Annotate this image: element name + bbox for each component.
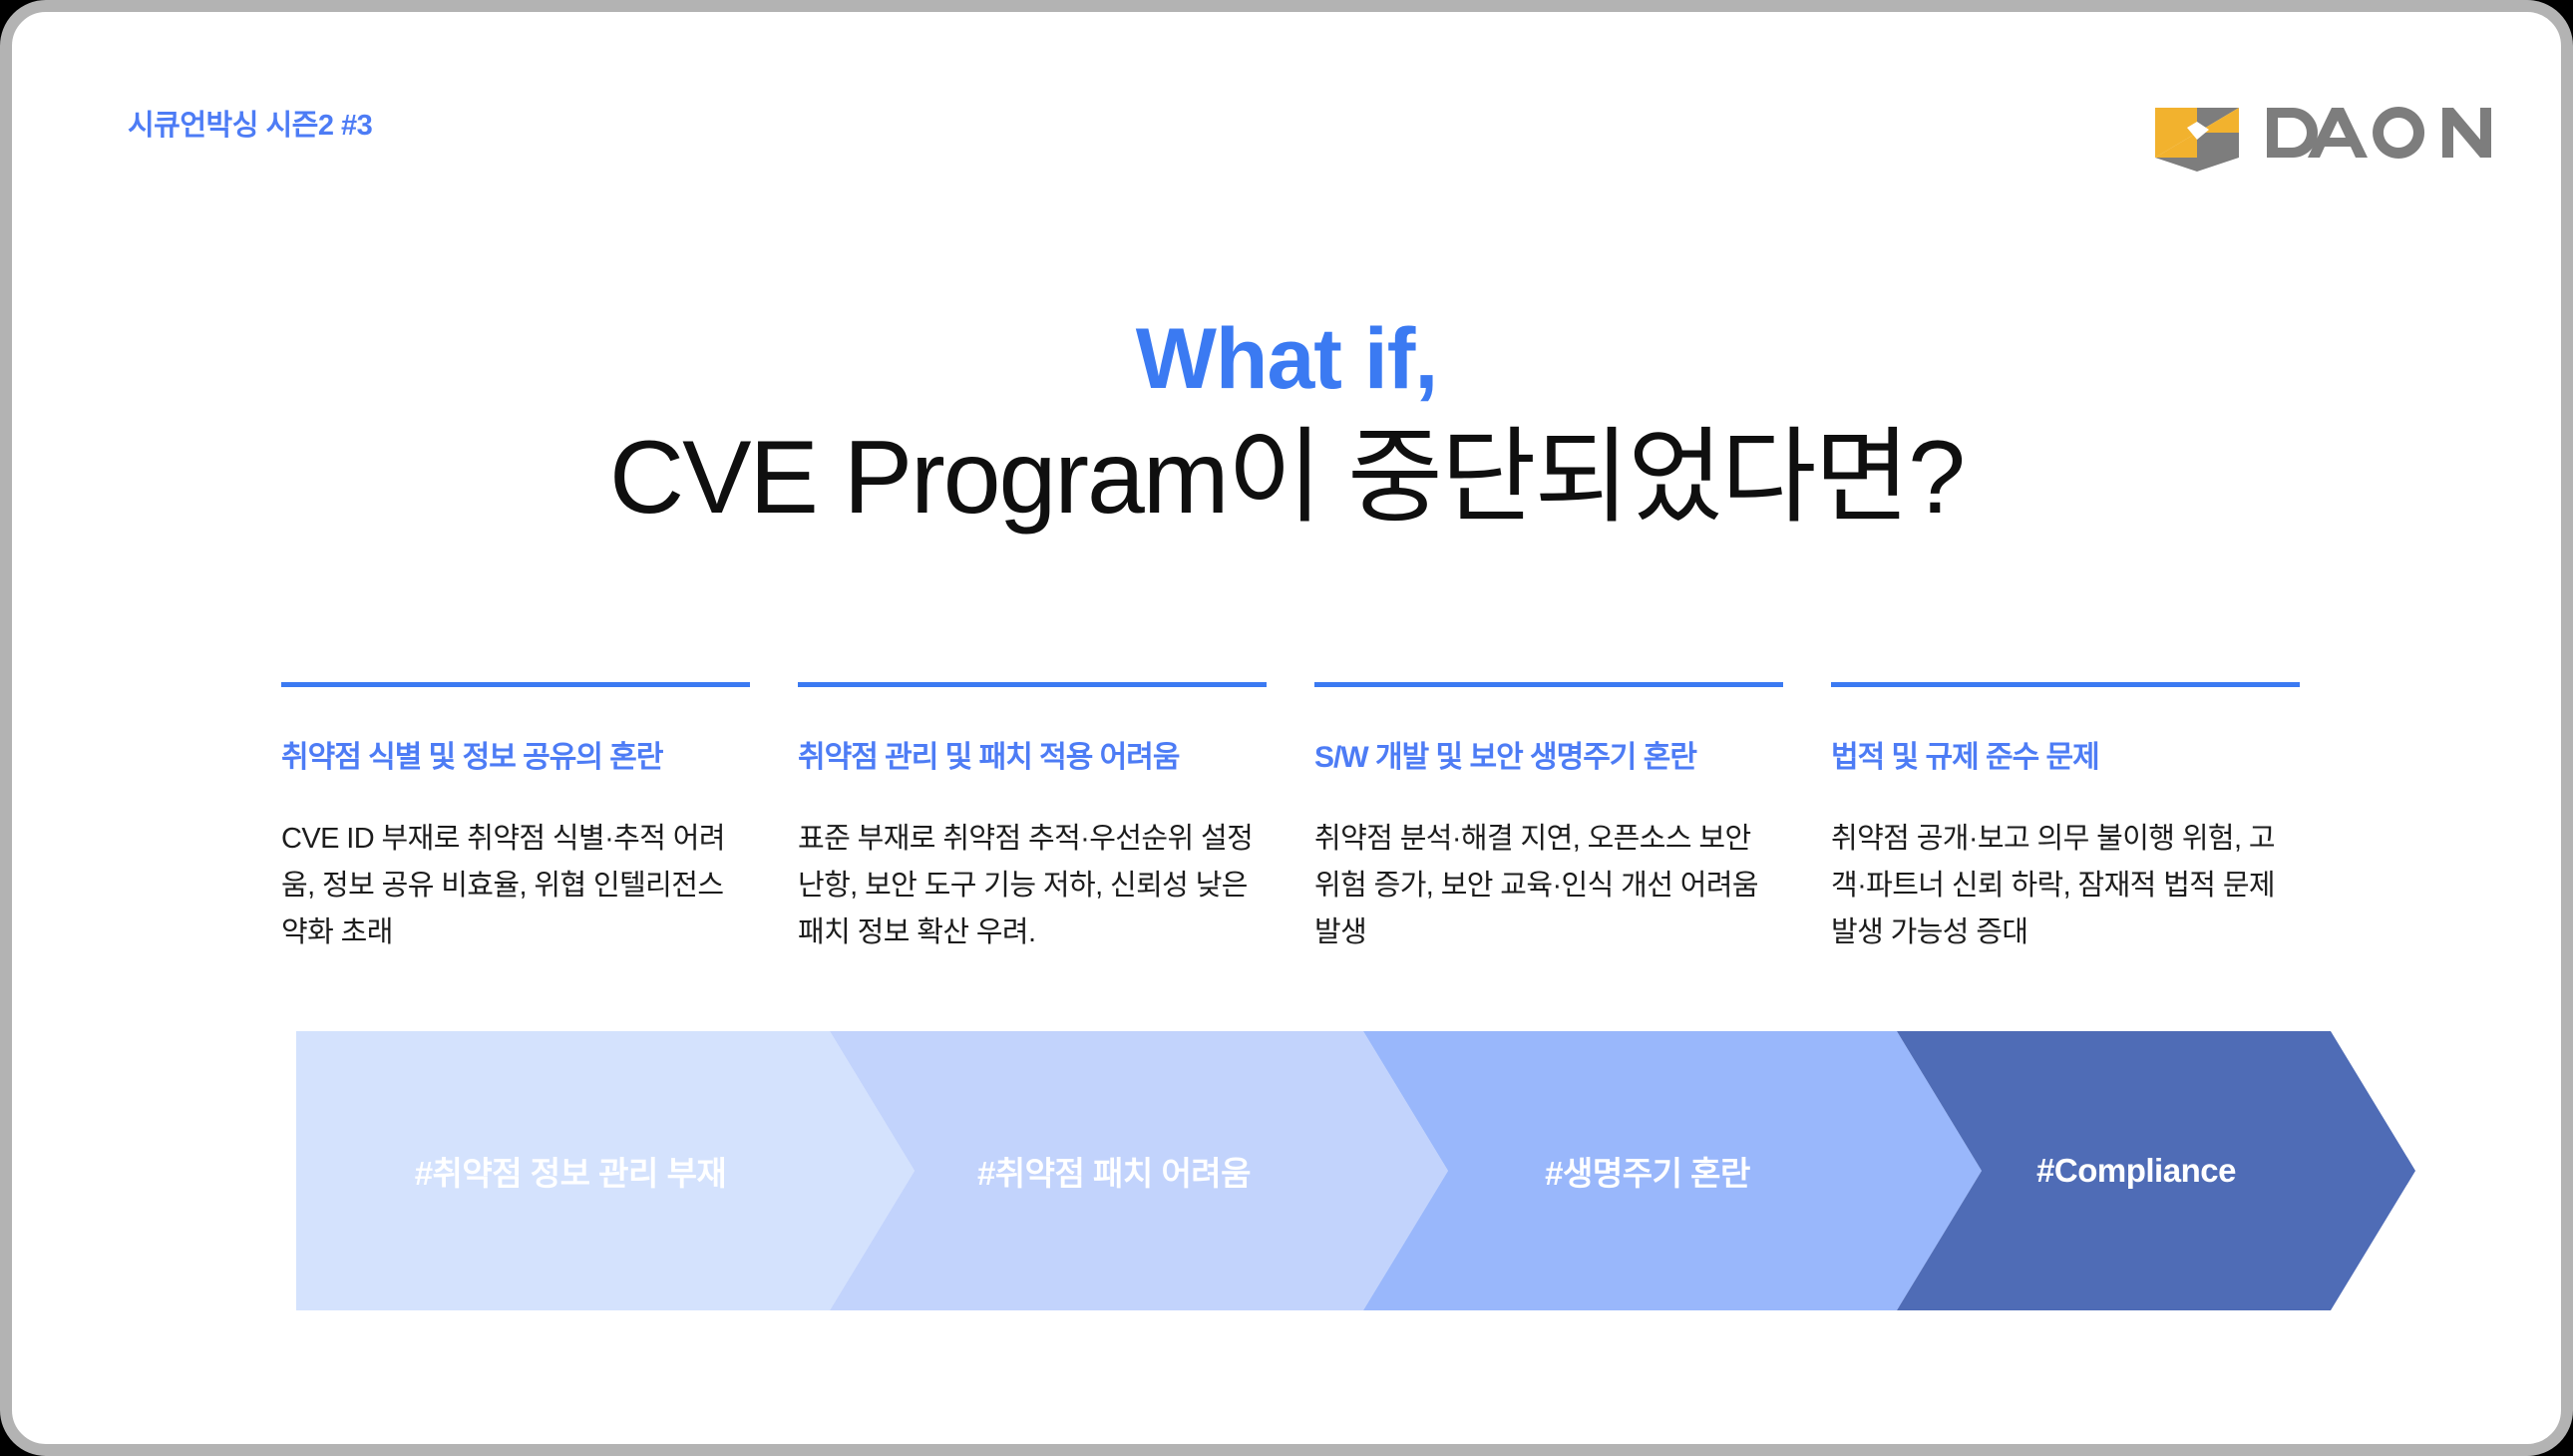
column-divider-rule [1314, 682, 1783, 687]
chevron-step-label: #취약점 정보 관리 부재 [415, 1147, 727, 1195]
column-divider-rule [281, 682, 750, 687]
column-body-text: 표준 부재로 취약점 추적·우선순위 설정 난항, 보안 도구 기능 저하, 신… [798, 816, 1267, 956]
chevron-step-2: #취약점 패치 어려움 [830, 1031, 1448, 1310]
page-title-line2: CVE Program이 중단되었다면? [12, 419, 2561, 538]
chevron-step-3: #생명주기 혼란 [1363, 1031, 1982, 1310]
chevron-step-label: #생명주기 혼란 [1545, 1147, 1750, 1195]
daon-logo-wordmark [2267, 107, 2491, 159]
daon-logo-mark [2155, 94, 2239, 172]
column-body-text: 취약점 분석·해결 지연, 오픈소스 보안 위험 증가, 보안 교육·인식 개선… [1314, 816, 1783, 956]
daon-logo-svg [2147, 94, 2510, 172]
title-block: What if, CVE Program이 중단되었다면? [12, 311, 2561, 538]
column-heading: 취약점 관리 및 패치 적용 어려움 [798, 732, 1267, 776]
slide-canvas: 시큐언박싱 시즌2 #3 [12, 12, 2561, 1444]
column-body-text: CVE ID 부재로 취약점 식별·추적 어려움, 정보 공유 비효율, 위협 … [281, 816, 750, 956]
column-heading: S/W 개발 및 보안 생명주기 혼란 [1314, 732, 1783, 776]
column-body-text: 취약점 공개·보고 의무 불이행 위험, 고객·파트너 신뢰 하락, 잠재적 법… [1831, 816, 2300, 956]
impact-column-2: 취약점 관리 및 패치 적용 어려움 표준 부재로 취약점 추적·우선순위 설정… [798, 682, 1267, 956]
chevron-process-band: #취약점 정보 관리 부재 #취약점 패치 어려움 #생명주기 혼란 #Comp… [296, 1031, 2415, 1310]
daon-logo [2147, 94, 2510, 172]
impact-column-4: 법적 및 규제 준수 문제 취약점 공개·보고 의무 불이행 위험, 고객·파트… [1831, 682, 2300, 956]
impact-column-1: 취약점 식별 및 정보 공유의 혼란 CVE ID 부재로 취약점 식별·추적 … [281, 682, 750, 956]
slide-eyebrow-label: 시큐언박싱 시즌2 #3 [128, 102, 372, 144]
chevron-step-label: #Compliance [2036, 1152, 2236, 1190]
impact-columns: 취약점 식별 및 정보 공유의 혼란 CVE ID 부재로 취약점 식별·추적 … [281, 682, 2312, 956]
slide-frame: 시큐언박싱 시즌2 #3 [0, 0, 2573, 1456]
chevron-step-label: #취약점 패치 어려움 [977, 1147, 1251, 1195]
column-divider-rule [798, 682, 1267, 687]
column-divider-rule [1831, 682, 2300, 687]
chevron-step-1: #취약점 정보 관리 부재 [296, 1031, 915, 1310]
column-heading: 법적 및 규제 준수 문제 [1831, 732, 2300, 776]
impact-column-3: S/W 개발 및 보안 생명주기 혼란 취약점 분석·해결 지연, 오픈소스 보… [1314, 682, 1783, 956]
page-title-line1: What if, [12, 311, 2561, 407]
column-heading: 취약점 식별 및 정보 공유의 혼란 [281, 732, 750, 776]
